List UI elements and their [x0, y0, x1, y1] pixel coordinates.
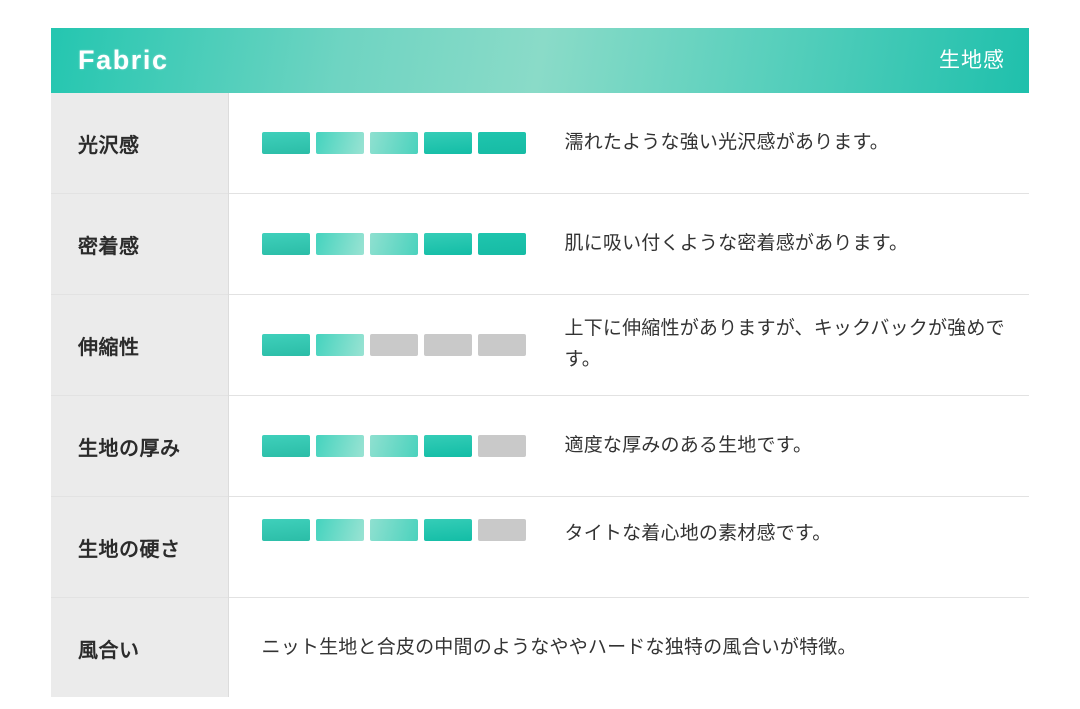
row-body: 濡れたような強い光沢感があります。 — [229, 93, 1030, 193]
rating-gauge — [262, 233, 530, 255]
gauge-segment-empty — [370, 334, 418, 356]
gauge-segment-filled — [424, 233, 472, 255]
gauge-segment-filled — [424, 435, 472, 457]
row-label-cell: 伸縮性 — [51, 295, 228, 396]
fabric-spec-card: Fabric 生地感 光沢感濡れたような強い光沢感があります。密着感肌に吸い付く… — [51, 28, 1029, 697]
row-body: 適度な厚みのある生地です。 — [229, 396, 1030, 496]
gauge-segment-empty — [478, 435, 526, 457]
row-description: ニット生地と合皮の中間のようなややハードな独特の風合いが特徴。 — [262, 633, 1012, 663]
gauge-segment-empty — [478, 334, 526, 356]
row-label: 密着感 — [78, 230, 228, 259]
row-label: 風合い — [78, 634, 228, 663]
table-body: 光沢感濡れたような強い光沢感があります。密着感肌に吸い付くような密着感があります… — [51, 93, 1029, 697]
row-description: 濡れたような強い光沢感があります。 — [530, 128, 1012, 159]
table-row: 生地の厚み適度な厚みのある生地です。 — [51, 396, 1029, 497]
table-row: 光沢感濡れたような強い光沢感があります。 — [51, 93, 1029, 194]
rating-gauge — [262, 519, 530, 541]
row-label-cell: 光沢感 — [51, 93, 228, 194]
gauge-segment-filled — [316, 334, 364, 356]
rating-gauge — [262, 132, 530, 154]
fabric-spec-table: 光沢感濡れたような強い光沢感があります。密着感肌に吸い付くような密着感があります… — [51, 93, 1029, 697]
gauge-segment-filled — [478, 233, 526, 255]
row-description: 肌に吸い付くような密着感があります。 — [530, 229, 1012, 260]
row-label-cell: 生地の厚み — [51, 396, 228, 497]
row-description: 上下に伸縮性がありますが、キックバックが強めです。 — [530, 314, 1012, 376]
gauge-segment-filled — [262, 132, 310, 154]
gauge-segment-filled — [316, 519, 364, 541]
page-title: Fabric — [78, 47, 169, 74]
table-row: 風合いニット生地と合皮の中間のようなややハードな独特の風合いが特徴。 — [51, 598, 1029, 698]
rating-gauge — [262, 435, 530, 457]
row-label: 生地の硬さ — [78, 533, 228, 562]
row-body: タイトな着心地の素材感です。 — [229, 497, 1030, 597]
gauge-segment-empty — [424, 334, 472, 356]
gauge-segment-filled — [370, 519, 418, 541]
row-label-cell: 風合い — [51, 598, 228, 698]
row-body-cell: ニット生地と合皮の中間のようなややハードな独特の風合いが特徴。 — [228, 598, 1029, 698]
row-label: 伸縮性 — [78, 331, 228, 360]
row-body-cell: 濡れたような強い光沢感があります。 — [228, 93, 1029, 194]
row-body: 肌に吸い付くような密着感があります。 — [229, 194, 1030, 294]
row-label-cell: 密着感 — [51, 194, 228, 295]
gauge-segment-filled — [316, 233, 364, 255]
gauge-segment-filled — [316, 435, 364, 457]
gauge-segment-empty — [478, 519, 526, 541]
row-body-cell: 上下に伸縮性がありますが、キックバックが強めです。 — [228, 295, 1029, 396]
gauge-segment-filled — [262, 519, 310, 541]
table-row: 密着感肌に吸い付くような密着感があります。 — [51, 194, 1029, 295]
gauge-segment-filled — [370, 435, 418, 457]
gauge-segment-filled — [370, 233, 418, 255]
gauge-segment-filled — [316, 132, 364, 154]
gauge-segment-filled — [424, 519, 472, 541]
gauge-segment-filled — [478, 132, 526, 154]
gauge-segment-filled — [424, 132, 472, 154]
row-body-cell: 適度な厚みのある生地です。 — [228, 396, 1029, 497]
rating-gauge — [262, 334, 530, 356]
row-body: 上下に伸縮性がありますが、キックバックが強めです。 — [229, 295, 1030, 395]
row-description: タイトな着心地の素材感です。 — [530, 519, 1012, 550]
row-label-cell: 生地の硬さ — [51, 497, 228, 598]
gauge-segment-filled — [262, 334, 310, 356]
gauge-segment-filled — [262, 435, 310, 457]
row-body: ニット生地と合皮の中間のようなややハードな独特の風合いが特徴。 — [229, 598, 1030, 697]
row-body-cell: タイトな着心地の素材感です。 — [228, 497, 1029, 598]
row-label: 光沢感 — [78, 129, 228, 158]
row-body-cell: 肌に吸い付くような密着感があります。 — [228, 194, 1029, 295]
table-row: 生地の硬さタイトな着心地の素材感です。 — [51, 497, 1029, 598]
table-row: 伸縮性上下に伸縮性がありますが、キックバックが強めです。 — [51, 295, 1029, 396]
gauge-segment-filled — [262, 233, 310, 255]
header-subtitle: 生地感 — [939, 50, 1005, 71]
card-header: Fabric 生地感 — [51, 28, 1029, 93]
gauge-segment-filled — [370, 132, 418, 154]
row-label: 生地の厚み — [78, 432, 228, 461]
row-description: 適度な厚みのある生地です。 — [530, 431, 1012, 462]
